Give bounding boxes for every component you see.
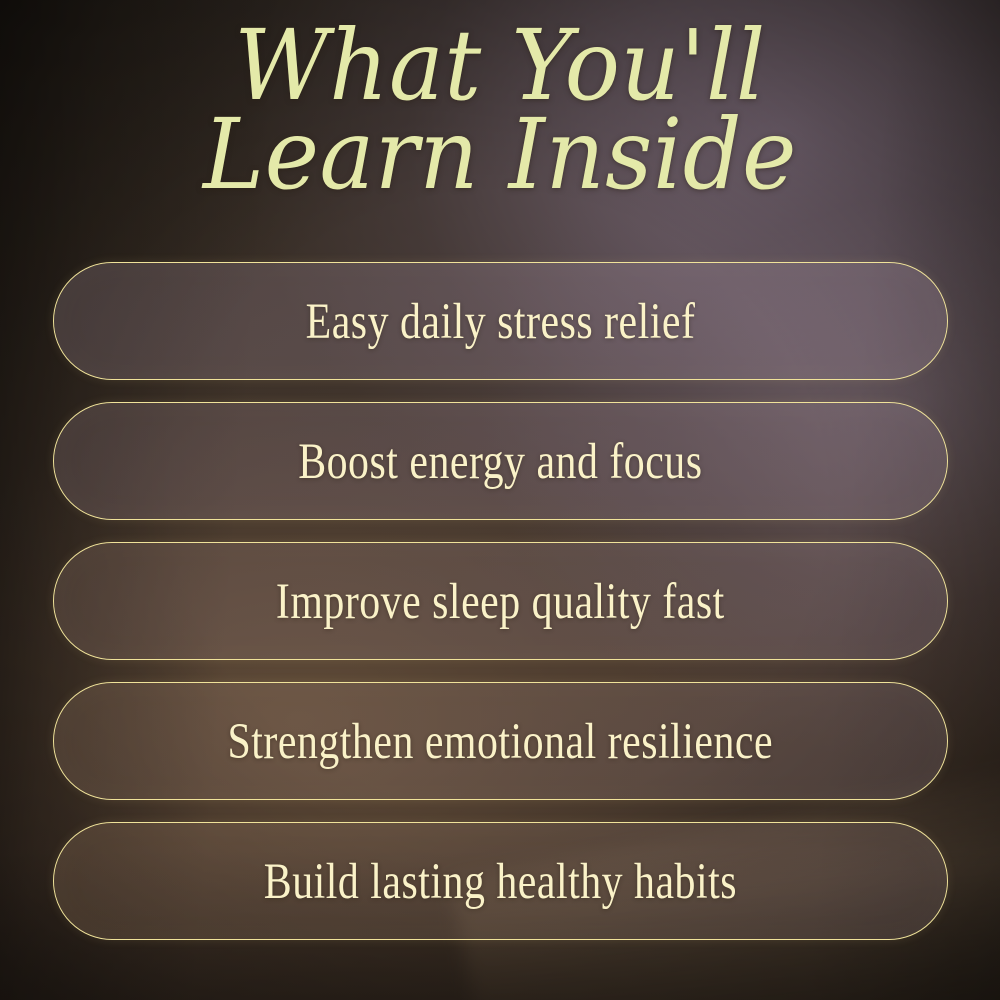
poster-canvas: What You'll Learn Inside Easy daily stre… (0, 0, 1000, 1000)
benefit-list: Easy daily stress relief Boost energy an… (53, 262, 948, 962)
list-item[interactable]: Easy daily stress relief (53, 262, 948, 380)
list-item-label: Boost energy and focus (298, 432, 702, 490)
list-item-label: Strengthen emotional resilience (228, 712, 774, 770)
list-item[interactable]: Improve sleep quality fast (53, 542, 948, 660)
page-title: What You'll Learn Inside (0, 24, 1000, 197)
page-title-line-2: Learn Inside (0, 110, 1000, 200)
list-item[interactable]: Boost energy and focus (53, 402, 948, 520)
list-item[interactable]: Build lasting healthy habits (53, 822, 948, 940)
list-item-label: Improve sleep quality fast (276, 572, 725, 630)
list-item[interactable]: Strengthen emotional resilience (53, 682, 948, 800)
list-item-label: Build lasting healthy habits (264, 852, 737, 910)
list-item-label: Easy daily stress relief (306, 292, 696, 350)
